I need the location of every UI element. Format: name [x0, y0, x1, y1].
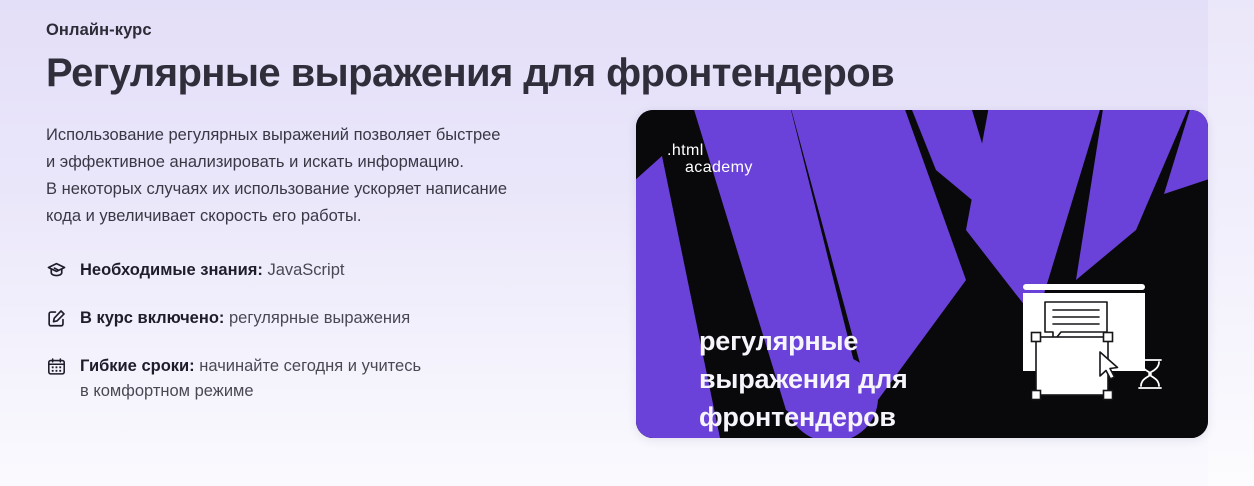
list-item: Гибкие сроки: начинайте сегодня и учитес… [46, 354, 626, 404]
description-line: и эффективное анализировать и искать инф… [46, 149, 626, 176]
list-item: В курс включено: регулярные выражения [46, 306, 626, 331]
card-title: регулярные выражения для фронтендеров [699, 322, 908, 436]
logo-line-bottom: academy [667, 159, 753, 176]
graduation-cap-icon [46, 260, 67, 281]
hero-section: Онлайн-курс Регулярные выражения для фро… [0, 0, 1254, 486]
page-title: Регулярные выражения для фронтендеров [46, 50, 626, 96]
fact-label: Необходимые знания: [80, 261, 263, 279]
description-line: кода и увеличивает скорость его работы. [46, 203, 626, 230]
card-title-line: выражения для [699, 360, 908, 398]
fact-label: В курс включено: [80, 309, 224, 327]
course-facts-list: Необходимые знания: JavaScript В курс вк… [46, 258, 626, 404]
fact-value-line2: в комфортном режиме [80, 382, 254, 400]
fact-text: В курс включено: регулярные выражения [80, 306, 410, 331]
fact-text: Гибкие сроки: начинайте сегодня и учитес… [80, 354, 421, 404]
calendar-icon [46, 356, 67, 377]
html-academy-logo: .html academy [667, 142, 753, 176]
fact-value: начинайте сегодня и учитесь [199, 357, 421, 375]
course-type-eyebrow: Онлайн-курс [46, 21, 626, 40]
description-line: Использование регулярных выражений позво… [46, 122, 626, 149]
course-description: Использование регулярных выражений позво… [46, 122, 626, 230]
hero-left-column: Онлайн-курс Регулярные выражения для фро… [46, 0, 626, 404]
course-cover-card[interactable]: .html academy регулярные выражения для ф… [636, 110, 1208, 438]
browser-window-illustration [1021, 282, 1171, 410]
list-item: Необходимые знания: JavaScript [46, 258, 626, 283]
description-line: В некоторых случаях их использование уск… [46, 176, 626, 203]
card-title-line: регулярные [699, 322, 908, 360]
card-title-line: фронтендеров [699, 398, 908, 436]
edit-square-icon [46, 308, 67, 329]
fact-value: регулярные выражения [229, 309, 410, 327]
logo-line-top: .html [667, 142, 704, 159]
fact-value: JavaScript [267, 261, 344, 279]
fact-label: Гибкие сроки: [80, 357, 195, 375]
page-right-margin [1208, 0, 1254, 486]
fact-text: Необходимые знания: JavaScript [80, 258, 344, 283]
